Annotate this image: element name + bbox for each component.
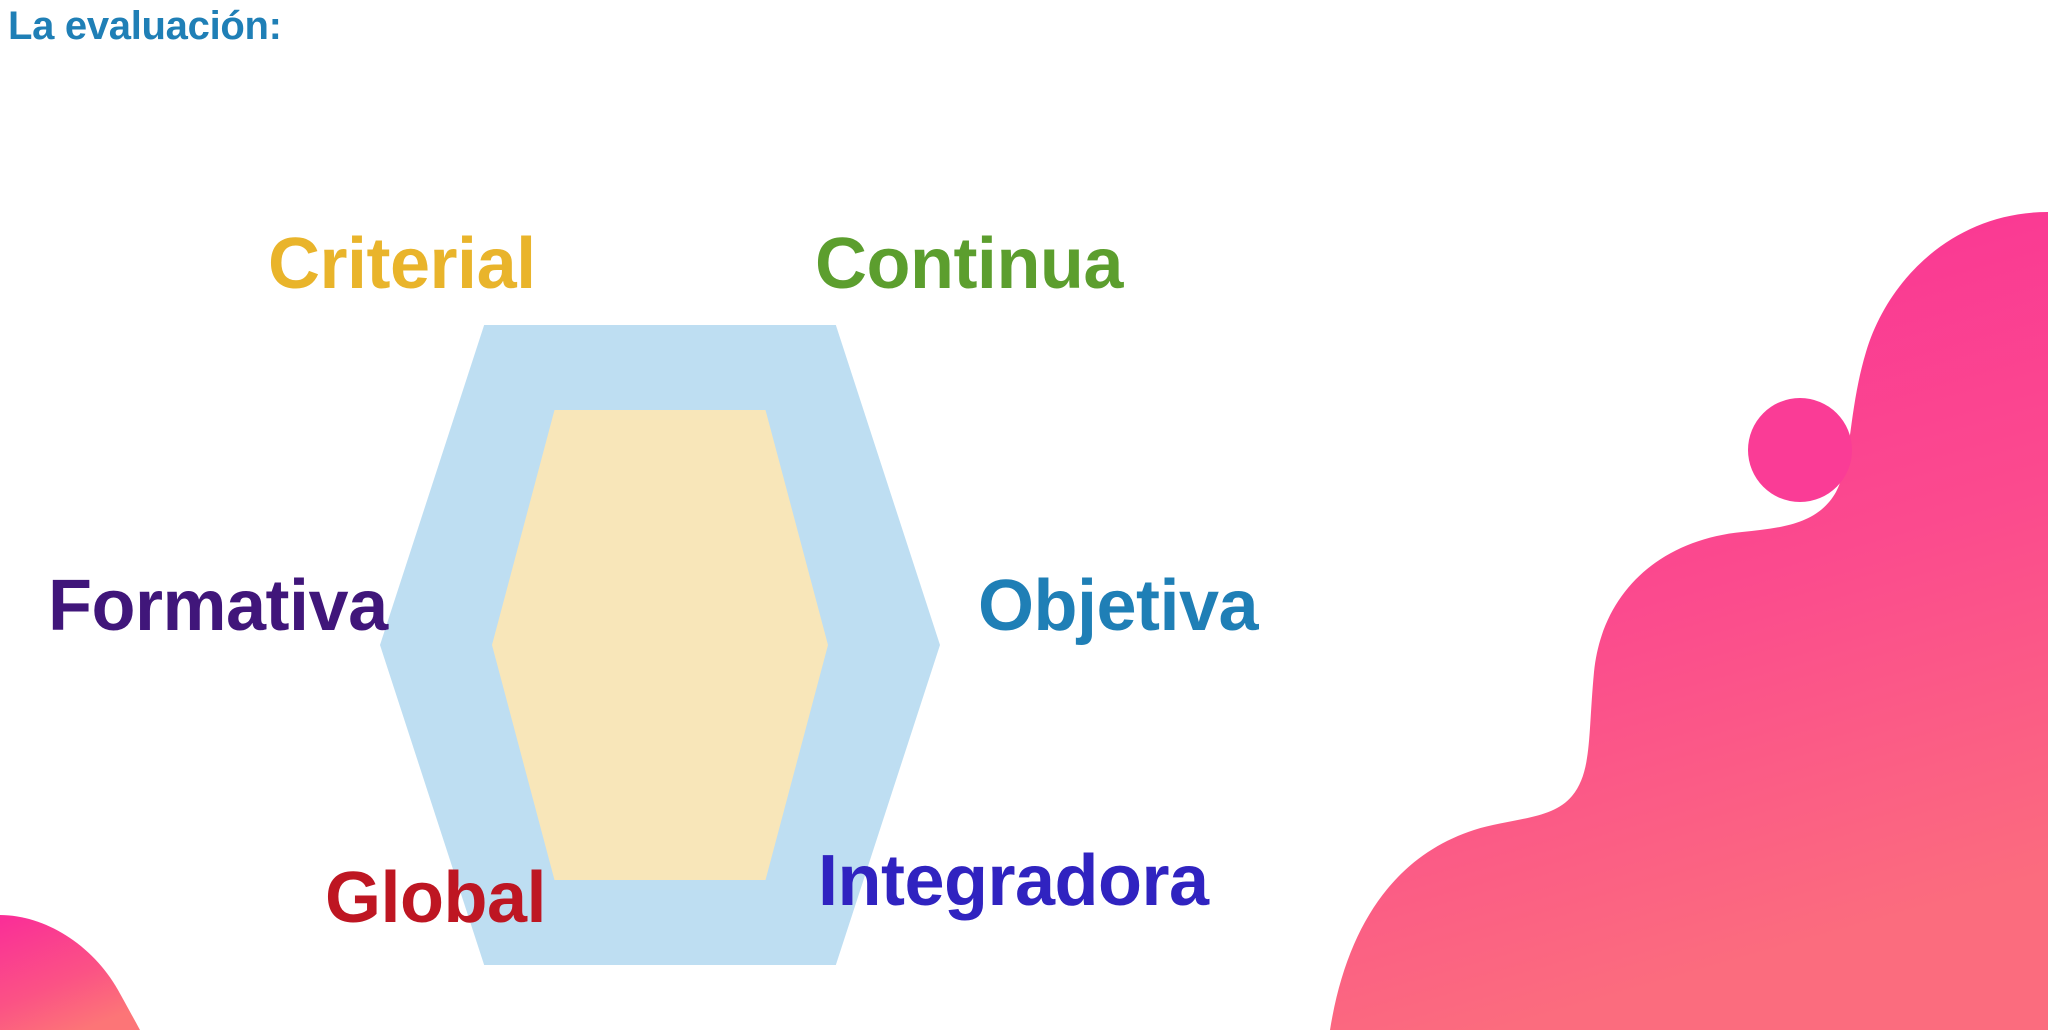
pink-blob-right-shape — [1330, 212, 2048, 1030]
pink-circle-small-shape — [1748, 398, 1852, 502]
page-title: La evaluación: — [8, 4, 282, 48]
diagram-label-integradora: Integradora — [818, 845, 1209, 917]
pink-blob-bottom-left-shape — [0, 915, 140, 1030]
diagram-label-criterial: Criterial — [268, 228, 536, 300]
diagram-label-global: Global — [325, 862, 546, 934]
slide-canvas: La evaluación: Criterial Continua Format… — [0, 0, 2048, 1030]
diagram-label-continua: Continua — [815, 228, 1123, 300]
inner-hexagon — [492, 410, 828, 880]
diagram-label-formativa: Formativa — [48, 570, 388, 642]
diagram-label-objetiva: Objetiva — [978, 570, 1258, 642]
